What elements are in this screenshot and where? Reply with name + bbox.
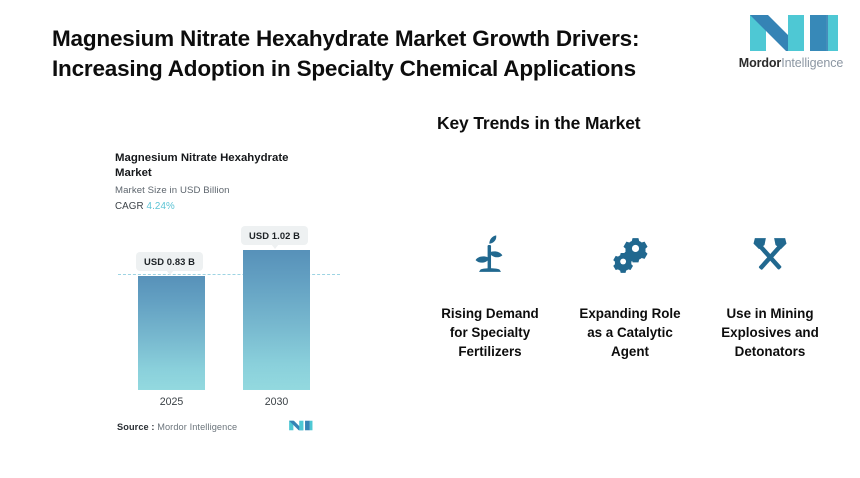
page-header: Magnesium Nitrate Hexahydrate Market Gro… <box>0 0 860 100</box>
bar-2030 <box>243 250 310 390</box>
brand-name-bold: Mordor <box>739 56 781 70</box>
trend-item-catalytic: Expanding Role as a Catalytic Agent <box>560 232 700 412</box>
page-title: Magnesium Nitrate Hexahydrate Market Gro… <box>52 24 702 84</box>
page-title-line-2: Increasing Adoption in Specialty Chemica… <box>52 54 702 84</box>
trend-label-fertilizers: Rising Demand for Specialty Fertilizers <box>431 304 549 361</box>
seedling-plant-icon <box>463 232 517 280</box>
source-mordor-monogram-icon <box>287 418 313 433</box>
brand-logo-text: MordorIntelligence <box>737 56 845 70</box>
trend-label-mining: Use in Mining Explosives and Detonators <box>711 304 829 361</box>
brand-logo: MordorIntelligence <box>737 13 845 75</box>
market-size-chart: Magnesium Nitrate Hexahydrate Market Mar… <box>100 140 360 450</box>
bar-value-label-2030: USD 1.02 B <box>241 226 308 245</box>
bar-2025 <box>138 276 205 390</box>
chart-source: Source : Mordor Intelligence <box>117 422 237 432</box>
key-trends-heading: Key Trends in the Market <box>437 113 640 134</box>
mordor-monogram-icon <box>742 13 840 53</box>
source-value: Mordor Intelligence <box>157 422 237 432</box>
brand-name-light: Intelligence <box>781 56 843 70</box>
x-axis-label-2025: 2025 <box>138 396 205 408</box>
x-axis-label-2030: 2030 <box>243 396 310 408</box>
trend-item-fertilizers: Rising Demand for Specialty Fertilizers <box>420 232 560 412</box>
bar-value-label-2025: USD 0.83 B <box>136 252 203 271</box>
trend-item-mining: Use in Mining Explosives and Detonators <box>700 232 840 412</box>
hammer-pickaxe-icon <box>743 232 797 280</box>
page-title-line-1: Magnesium Nitrate Hexahydrate Market Gro… <box>52 24 702 54</box>
source-label: Source : <box>117 422 155 432</box>
key-trends-list: Rising Demand for Specialty Fertilizers … <box>420 232 840 412</box>
gears-icon <box>603 232 657 280</box>
trend-label-catalytic: Expanding Role as a Catalytic Agent <box>571 304 689 361</box>
chart-plot-area: USD 0.83 B USD 1.02 B 2025 2030 <box>100 140 360 450</box>
